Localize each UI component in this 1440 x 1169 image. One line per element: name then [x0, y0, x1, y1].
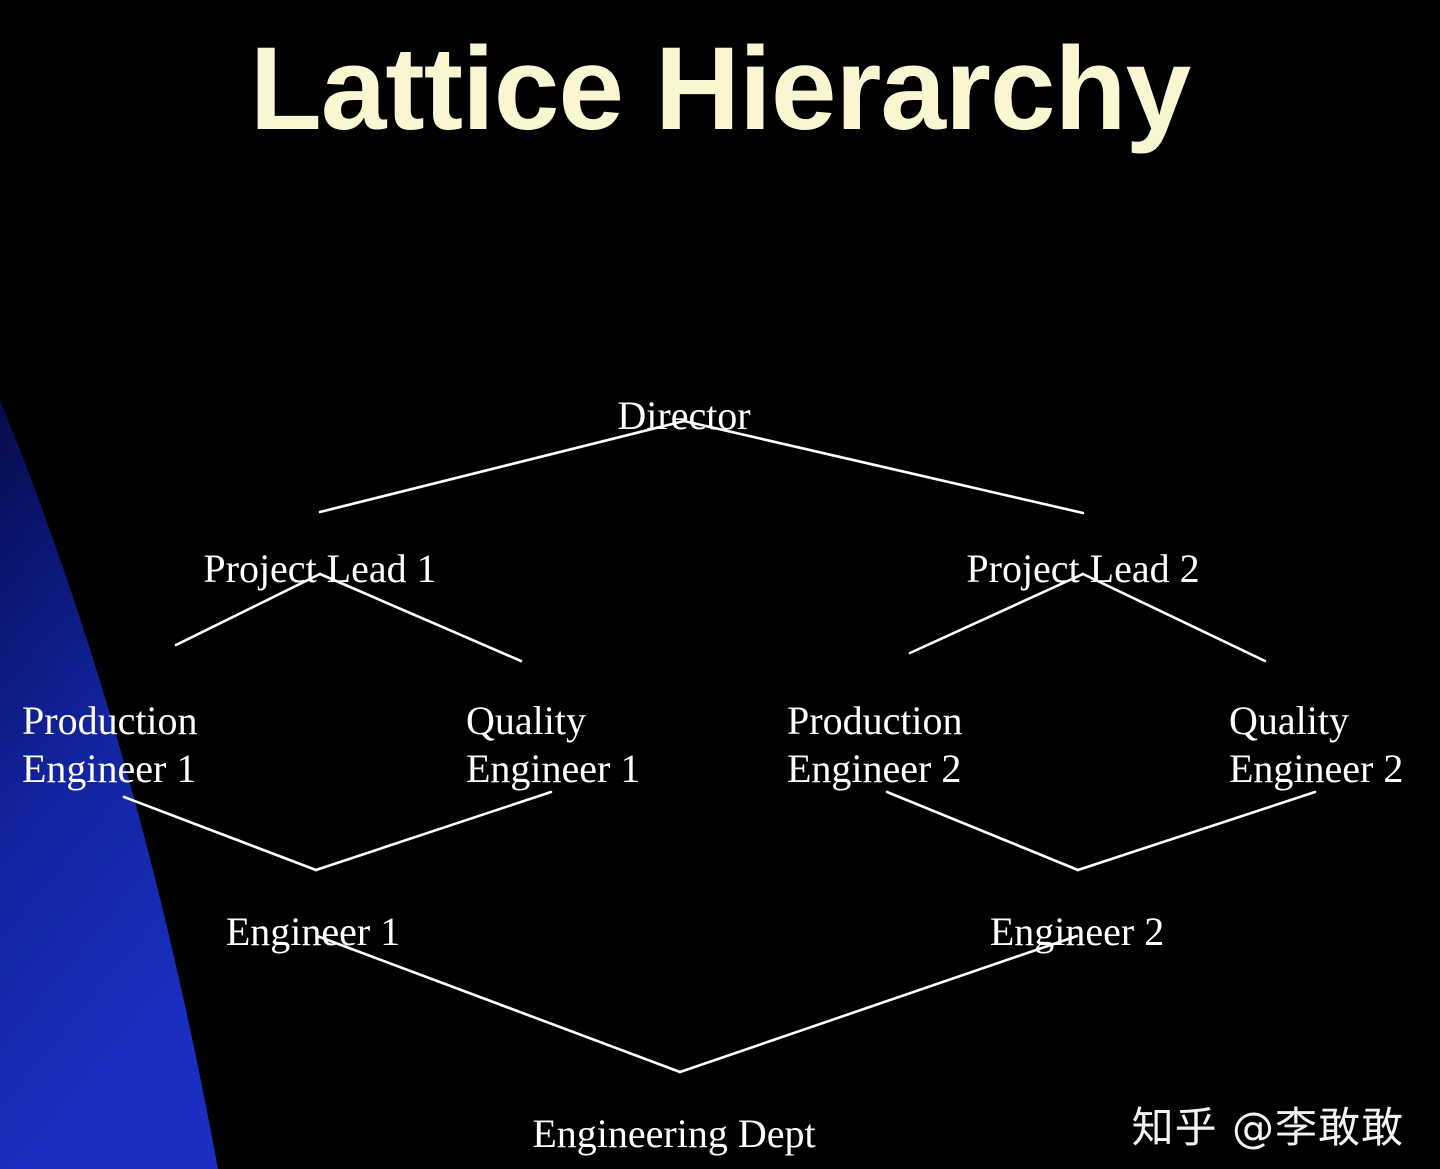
edge-prod-eng1-to-eng1: [124, 797, 316, 870]
node-eng-dept[interactable]: Engineering Dept: [532, 1110, 815, 1158]
edge-eng2-to-eng-dept: [680, 936, 1077, 1072]
slide-canvas: Lattice Hierarchy DirectorProject Lead 1…: [0, 0, 1440, 1169]
node-lead2[interactable]: Project Lead 2: [966, 545, 1199, 593]
node-qual-eng1[interactable]: Quality Engineer 1: [466, 697, 640, 793]
edge-qual-eng2-to-eng2: [1078, 792, 1315, 870]
node-lead1[interactable]: Project Lead 1: [203, 545, 436, 593]
edge-prod-eng2-to-eng2: [887, 792, 1078, 870]
node-eng2[interactable]: Engineer 2: [990, 908, 1164, 956]
watermark-zhihu: 知乎 @李敢敢: [1132, 1105, 1404, 1151]
node-prod-eng1[interactable]: Production Engineer 1: [22, 697, 198, 793]
node-director[interactable]: Director: [617, 392, 750, 440]
node-prod-eng2[interactable]: Production Engineer 2: [787, 697, 963, 793]
node-eng1[interactable]: Engineer 1: [226, 908, 400, 956]
edge-qual-eng1-to-eng1: [316, 792, 551, 870]
node-qual-eng2[interactable]: Quality Engineer 2: [1229, 697, 1403, 793]
edge-eng1-to-eng-dept: [317, 936, 680, 1072]
